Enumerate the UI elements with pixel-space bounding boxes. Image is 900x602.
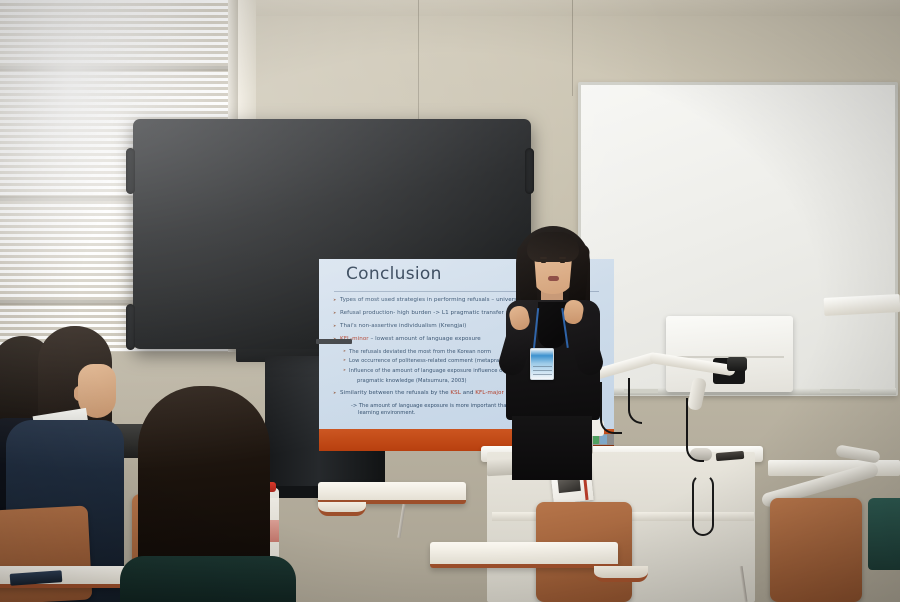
tablet-desk-top	[318, 482, 466, 504]
green-chair[interactable]	[868, 498, 900, 570]
presenter-eye	[541, 261, 546, 263]
presenter-hair-front	[527, 232, 579, 262]
cable	[628, 378, 642, 424]
bullet-text-before: Similarity between the refusals by the	[340, 390, 450, 396]
audience-member-shoulders	[120, 556, 296, 602]
badge-text-line	[533, 366, 552, 367]
wooden-chair[interactable]	[770, 498, 862, 602]
presenter-eyebrow	[540, 257, 547, 259]
bullet-text-mid: and	[461, 390, 475, 396]
highlight-ksl: KSL	[450, 390, 461, 396]
badge-text-line	[533, 374, 552, 375]
whiteboard-marker	[820, 389, 860, 393]
display-handle	[126, 304, 135, 350]
presenter-name-badge	[530, 348, 554, 380]
presenter-eye	[560, 261, 565, 263]
presenter-mouth	[548, 276, 559, 281]
tablet-desk-top	[430, 542, 618, 568]
presenter	[478, 222, 628, 480]
tablet-desk-arm	[594, 566, 648, 582]
cable	[686, 398, 704, 462]
badge-text-line	[533, 370, 552, 371]
presenter-eyebrow	[559, 257, 566, 259]
tablet-desk-arm	[318, 502, 366, 516]
wall-seam	[572, 0, 573, 96]
document-camera-lens	[727, 357, 747, 371]
interactive-display[interactable]: Conclusion Types of most used strategies…	[133, 119, 531, 349]
presenter-skirt	[512, 416, 592, 480]
display-handle	[525, 148, 534, 194]
slide-title: Conclusion	[346, 264, 442, 284]
display-brand-logo	[316, 339, 352, 344]
display-handle	[126, 148, 135, 194]
bullet-text: – lowest amount of language exposure	[369, 336, 481, 342]
coiled-cable	[692, 474, 714, 536]
classroom-presentation-photo: Conclusion Types of most used strategies…	[0, 0, 900, 602]
